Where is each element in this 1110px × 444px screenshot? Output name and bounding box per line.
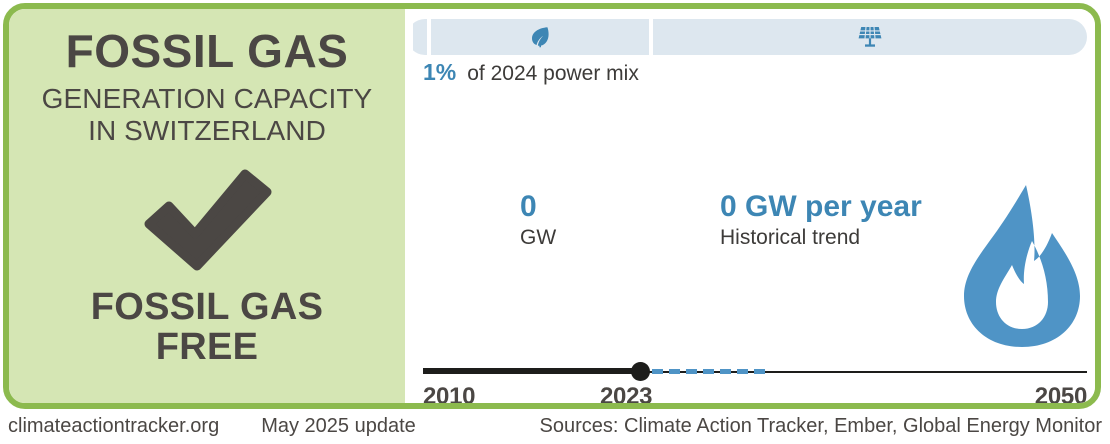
left-summary-panel: FOSSIL GAS GENERATION CAPACITY IN SWITZE… [9,9,405,403]
status-text: FOSSIL GAS FREE [91,288,323,367]
fuel-subtitle: GENERATION CAPACITY IN SWITZERLAND [42,83,373,146]
leaf-icon [530,26,550,48]
footer-website-link[interactable]: climateactiontracker.org [8,415,219,438]
footer-right-group: Sources: Climate Action Tracker, Ember, … [540,415,1102,438]
toggle-segment-renewables[interactable] [431,19,649,55]
timeline-historical-segment [423,368,642,374]
stat-capacity-value: 0 [520,192,556,222]
timeline-year-end: 2050 [1035,383,1087,409]
stat-historical-trend: 0 GW per year Historical trend [720,192,922,251]
solar-panel-icon [857,25,883,49]
timeline-year-labels: 2010 2023 2050 [423,383,1087,409]
gas-flame-icon [960,183,1084,349]
fuel-subtitle-line-2: IN SWITZERLAND [42,115,373,146]
fuel-subtitle-line-1: GENERATION CAPACITY [42,83,373,114]
stat-trend-label: Historical trend [720,225,922,251]
power-mix-share: 1% of 2024 power mix [423,59,639,86]
toggle-segment-partial-previous[interactable] [413,19,427,55]
stat-capacity-unit: GW [520,225,556,251]
right-chart-panel: 1% of 2024 power mix 0 GW 0 GW per year … [405,9,1095,403]
toggle-segment-solar[interactable] [653,19,1087,55]
status-line-2: FREE [91,328,323,368]
fuel-card: FOSSIL GAS GENERATION CAPACITY IN SWITZE… [3,3,1101,409]
timeline-axis: 2010 2023 2050 [423,361,1087,409]
footer: climateactiontracker.org May 2025 update… [0,412,1110,444]
stat-capacity: 0 GW [520,192,556,251]
timeline-year-start: 2010 [423,383,475,409]
power-mix-label: of 2024 power mix [467,62,639,86]
footer-left-group: climateactiontracker.org May 2025 update [8,415,416,438]
fuel-title: FOSSIL GAS [66,27,349,75]
stat-trend-value: 0 GW per year [720,192,922,222]
timeline-year-marker: 2023 [600,383,652,409]
footer-sources: Sources: Climate Action Tracker, Ember, … [540,415,1102,437]
timeline-projection-segment [652,369,767,374]
fuel-type-toggle-bar[interactable] [413,19,1087,55]
infographic-root: FOSSIL GAS GENERATION CAPACITY IN SWITZE… [0,0,1110,444]
status-line-1: FOSSIL GAS [91,288,323,328]
timeline-marker-dot[interactable] [631,362,650,381]
power-mix-percent: 1% [423,59,456,86]
footer-update-date: May 2025 update [261,415,416,438]
check-mark-icon [137,168,277,272]
